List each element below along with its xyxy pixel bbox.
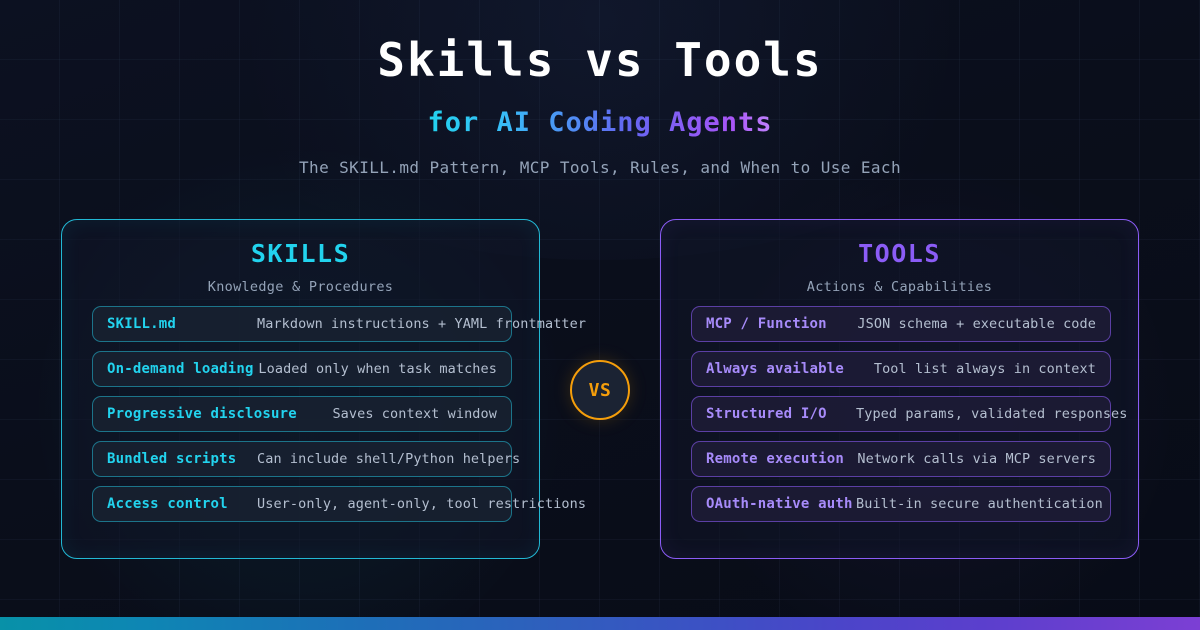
skills-row[interactable]: Bundled scripts Can include shell/Python… [92,441,512,477]
tools-row[interactable]: MCP / Function JSON schema + executable … [691,306,1111,342]
bottom-accent-bar [0,617,1200,630]
skills-row-label: Progressive disclosure [107,406,297,422]
tools-row[interactable]: Remote execution Network calls via MCP s… [691,441,1111,477]
panel-tools-rows: MCP / Function JSON schema + executable … [691,306,1111,531]
skills-row-desc: Markdown instructions + YAML frontmatter [257,316,586,332]
panel-tools: TOOLS Actions & Capabilities MCP / Funct… [660,219,1139,559]
tools-row-desc: Built-in secure authentication [856,496,1103,512]
skills-row-label: SKILL.md [107,316,257,332]
panel-skills-subtitle: Knowledge & Procedures [62,279,539,295]
skills-row-label: Bundled scripts [107,451,257,467]
tools-row[interactable]: Structured I/O Typed params, validated r… [691,396,1111,432]
panel-skills-header: SKILLS Knowledge & Procedures [62,220,539,295]
tools-row-label: OAuth-native auth [706,496,856,512]
skills-row[interactable]: Access control User-only, agent-only, to… [92,486,512,522]
page-subtitle: for AI Coding Agents [427,107,772,138]
skills-row[interactable]: Progressive disclosure Saves context win… [92,396,512,432]
panel-skills-rows: SKILL.md Markdown instructions + YAML fr… [92,306,512,531]
panel-tools-header: TOOLS Actions & Capabilities [661,220,1138,295]
page-tagline: The SKILL.md Pattern, MCP Tools, Rules, … [0,158,1200,177]
tools-row-desc: Tool list always in context [856,361,1096,377]
tools-row-desc: Typed params, validated responses [856,406,1128,422]
tools-row-label: Always available [706,361,856,377]
tools-row[interactable]: Always available Tool list always in con… [691,351,1111,387]
vs-badge: VS [570,360,630,420]
skills-row-desc: User-only, agent-only, tool restrictions [257,496,586,512]
panel-skills: SKILLS Knowledge & Procedures SKILL.md M… [61,219,540,559]
skills-row-desc: Loaded only when task matches [257,361,497,377]
panel-tools-subtitle: Actions & Capabilities [661,279,1138,295]
page-title: Skills vs Tools [0,34,1200,87]
skills-row[interactable]: On-demand loading Loaded only when task … [92,351,512,387]
tools-row-label: Structured I/O [706,406,856,422]
tools-row-label: MCP / Function [706,316,856,332]
skills-row-desc: Can include shell/Python helpers [257,451,520,467]
skills-row-label: On-demand loading [107,361,257,377]
tools-row-desc: Network calls via MCP servers [856,451,1096,467]
skills-row-desc: Saves context window [297,406,497,422]
tools-row-desc: JSON schema + executable code [856,316,1096,332]
panel-tools-title: TOOLS [661,239,1138,268]
panel-skills-title: SKILLS [62,239,539,268]
tools-row-label: Remote execution [706,451,856,467]
tools-row[interactable]: OAuth-native auth Built-in secure authen… [691,486,1111,522]
infographic-canvas: Skills vs Tools for AI Coding Agents The… [0,0,1200,630]
skills-row[interactable]: SKILL.md Markdown instructions + YAML fr… [92,306,512,342]
skills-row-label: Access control [107,496,257,512]
header-block: Skills vs Tools for AI Coding Agents The… [0,34,1200,177]
